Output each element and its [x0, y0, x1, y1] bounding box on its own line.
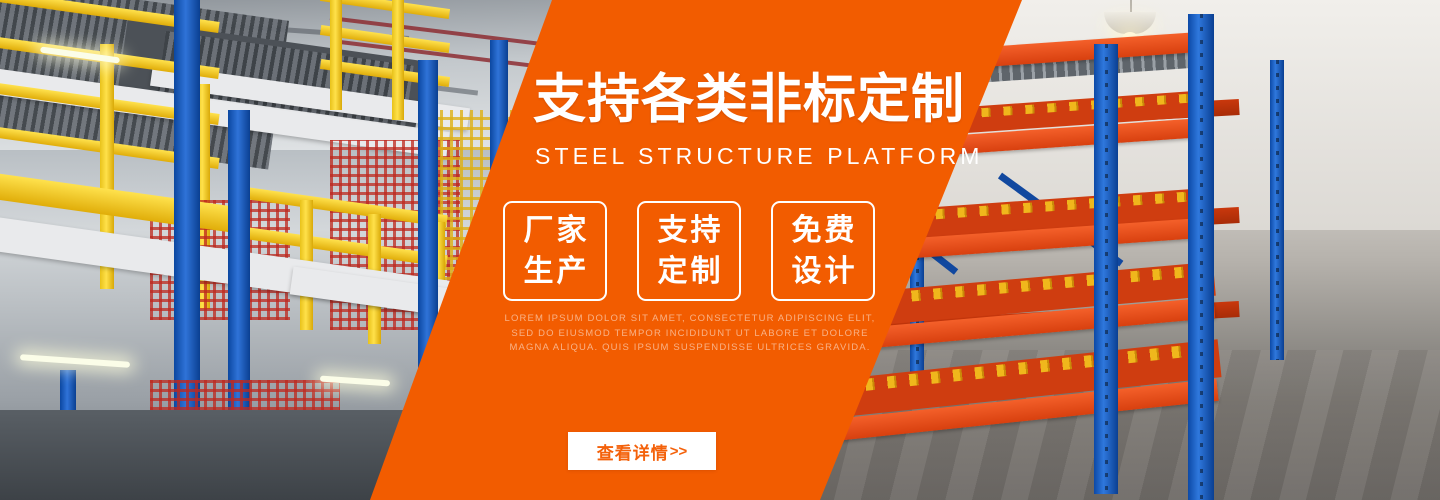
banner-content: 支持各类非标定制 STEEL STRUCTURE PLATFORM 厂家 生产 … — [0, 0, 1440, 500]
view-details-button[interactable]: 查看详情>> — [568, 432, 716, 470]
page-subtitle: STEEL STRUCTURE PLATFORM — [535, 143, 984, 170]
badge-line-1: 厂家 — [521, 210, 590, 251]
cta-label: 查看详情 — [597, 439, 669, 464]
badge-line-1: 免费 — [789, 210, 858, 251]
badge-line-2: 定制 — [655, 251, 724, 292]
badge-line-2: 设计 — [789, 251, 858, 292]
feature-badge-free-design[interactable]: 免费 设计 — [771, 201, 875, 301]
badge-line-1: 支持 — [655, 210, 724, 251]
feature-badge-list: 厂家 生产 支持 定制 免费 设计 — [503, 201, 875, 301]
feature-badge-manufacturer[interactable]: 厂家 生产 — [503, 201, 607, 301]
banner-description: LOREM IPSUM DOLOR SIT AMET, CONSECTETUR … — [500, 312, 880, 356]
chevron-right-icon: >> — [670, 443, 688, 460]
feature-badge-customization[interactable]: 支持 定制 — [637, 201, 741, 301]
badge-line-2: 生产 — [521, 251, 590, 292]
page-title: 支持各类非标定制 — [533, 70, 993, 130]
hero-banner: 支持各类非标定制 STEEL STRUCTURE PLATFORM 厂家 生产 … — [0, 0, 1440, 500]
